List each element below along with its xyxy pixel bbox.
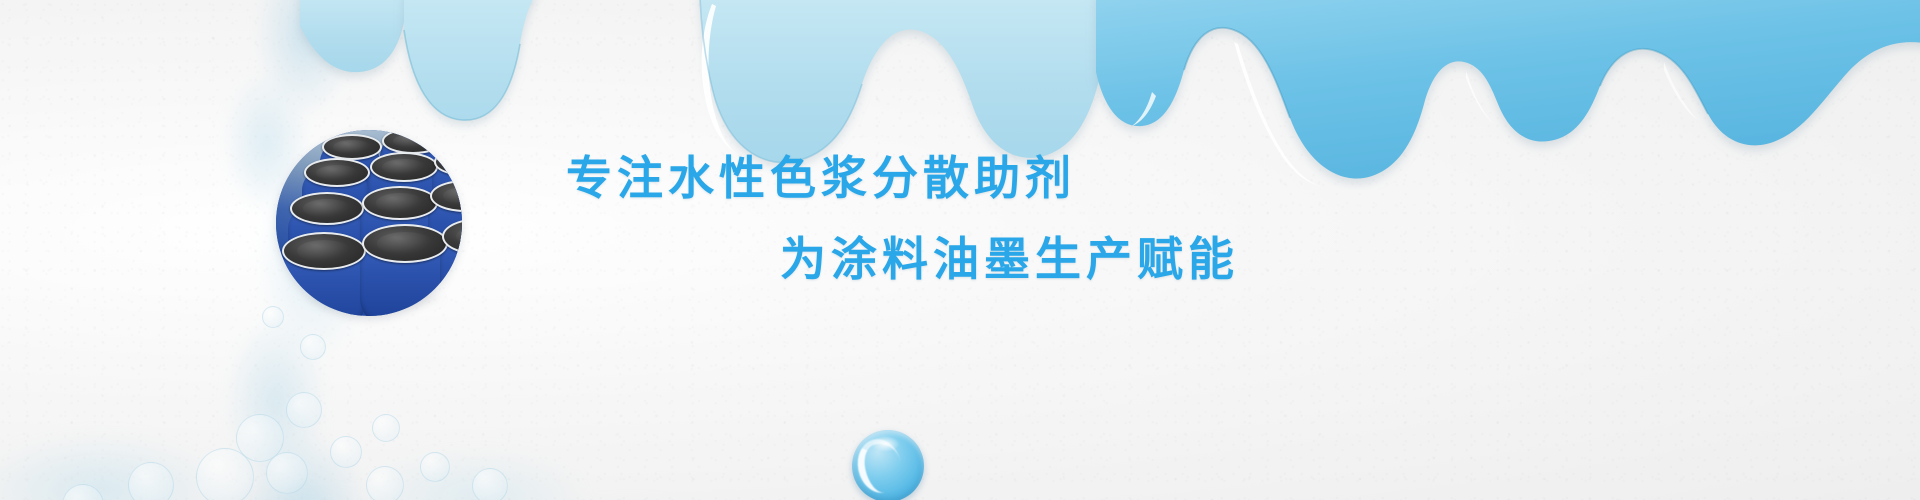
bubble-specular-highlight bbox=[871, 436, 900, 452]
product-photo bbox=[276, 130, 462, 316]
water-bubble-icon bbox=[852, 430, 924, 500]
promo-banner: 专注水性色浆分散助剂 为涂料油墨生产赋能 bbox=[0, 0, 1920, 500]
blue-chemical-drums-image bbox=[276, 130, 462, 316]
